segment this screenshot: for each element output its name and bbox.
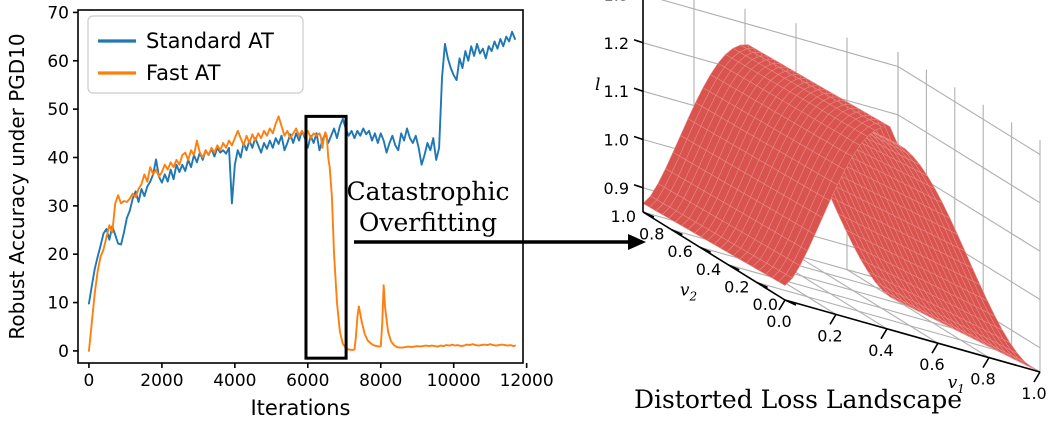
surface-mesh [643,45,1040,372]
v1-tick-label: 0.4 [868,341,893,360]
v1-tick [881,329,887,339]
loss-landscape-chart: 0.91.01.11.21.3l0.00.20.40.60.81.0v20.00… [530,0,1048,422]
z-tick [634,137,643,140]
y-axis-title: Robust Accuracy under PGD10 [5,33,29,339]
x-tick-label: 10000 [427,371,481,391]
y-tick-label: 40 [47,148,69,168]
v1-tick [830,314,836,324]
gridline-wall-z2 [898,67,1040,155]
robust-accuracy-chart: 0200040006000800010000120000102030405060… [0,0,540,422]
v2-tick-label: 0.8 [639,225,664,244]
z-tick-label: 1.3 [604,0,629,5]
catastrophic-overfitting-highlight-box [306,116,346,358]
surface-caption: Distorted Loss Landscape [634,385,962,414]
z-tick-label: 1.1 [604,82,629,101]
v1-tick-label: 0.0 [766,312,791,331]
z-tick [634,40,643,43]
z-tick-label: 0.9 [604,179,629,198]
left-chart-panel: 0200040006000800010000120000102030405060… [0,0,540,422]
gridline-wall-z [643,0,898,67]
x-tick-label: 6000 [286,371,329,391]
v1-tick-label: 0.6 [919,355,944,374]
v2-tick-label: 1.0 [611,207,636,226]
v1-tick-label: 0.2 [817,326,842,345]
y-tick-label: 60 [47,52,69,72]
x-tick-label: 8000 [359,371,402,391]
right-chart-panel: 0.91.01.11.21.3l0.00.20.40.60.81.0v20.00… [530,0,1048,422]
v2-tick-label: 0.4 [696,260,721,279]
v1-tick [932,343,938,353]
x-tick-label: 2000 [140,371,183,391]
y-tick-label: 0 [58,342,69,362]
z-axis-label: l [595,75,600,95]
legend-label-fast-at: Fast AT [146,61,221,85]
x-tick-label: 4000 [213,371,256,391]
y-tick-label: 20 [47,245,69,265]
x-tick-label: 0 [84,371,95,391]
y-tick-label: 30 [47,197,69,217]
y-tick-label: 10 [47,294,69,314]
v1-tick [983,358,989,368]
z-tick [634,185,643,188]
v2-tick-label: 0.6 [667,242,692,261]
v1-tick [779,300,785,310]
y-tick-label: 70 [47,3,69,23]
z-tick-label: 1.2 [604,34,629,53]
legend-label-standard-at: Standard AT [146,29,274,53]
v2-axis-label: v2 [680,280,697,303]
z-tick-label: 1.0 [604,131,629,150]
v2-tick-label: 0.2 [724,277,749,296]
v1-tick [1034,372,1040,382]
v1-tick-label: 1.0 [1021,384,1046,403]
annotation-line-2: Overfitting [359,208,497,237]
z-tick [634,88,643,91]
x-axis-title: Iterations [250,396,350,420]
annotation-line-1: Catastrophic [347,177,510,206]
v1-tick-label: 0.8 [970,370,995,389]
figure-root: 0200040006000800010000120000102030405060… [0,0,1048,422]
y-tick-label: 50 [47,100,69,120]
